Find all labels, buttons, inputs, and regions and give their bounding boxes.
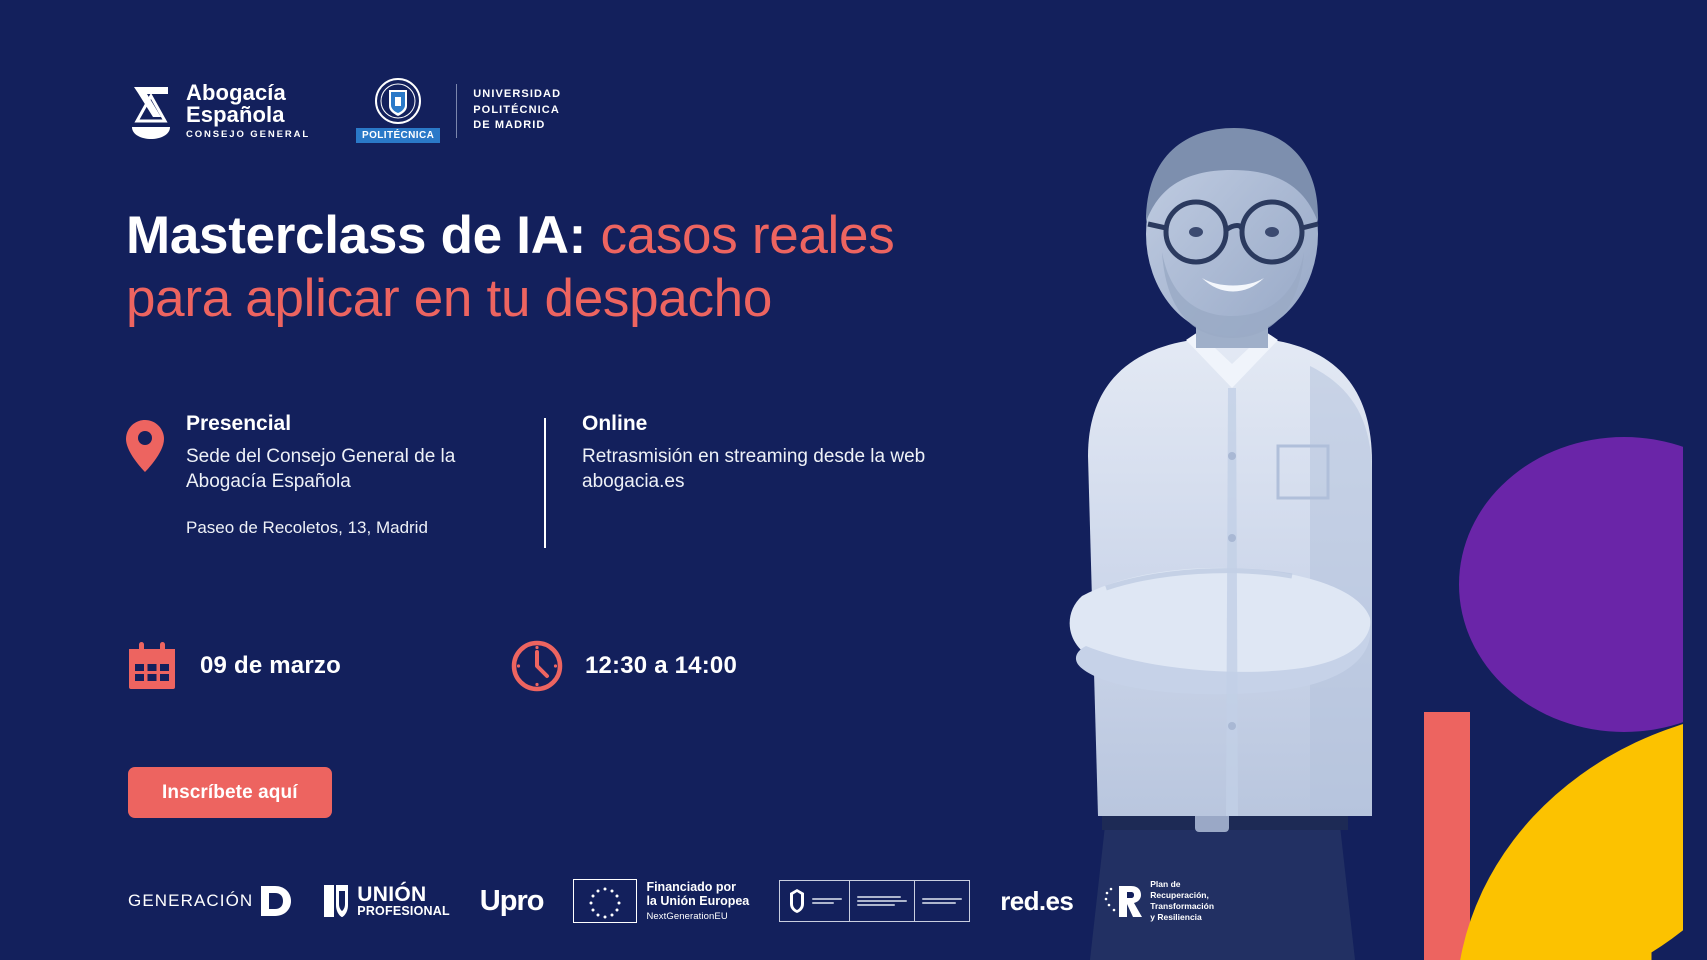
union-profesional-line2: PROFESIONAL xyxy=(357,905,449,917)
headline-line2: para aplicar en tu despacho xyxy=(126,267,1026,331)
modality-online: Online Retrasmisión en streaming desde l… xyxy=(582,412,942,494)
online-body: Retrasmisión en streaming desde la web a… xyxy=(582,444,942,494)
eu-line2: la Unión Europea xyxy=(646,894,749,909)
gobierno-cell-3 xyxy=(915,881,969,921)
online-title: Online xyxy=(582,412,942,436)
yellow-leaf-decoration xyxy=(1456,707,1707,960)
abogacia-line1: Abogacía xyxy=(186,82,310,104)
right-edge-mask xyxy=(1683,0,1707,960)
gobierno-espana-logo xyxy=(779,880,970,922)
gobierno-cell-1 xyxy=(780,881,850,921)
prtr-line3: Transformación xyxy=(1150,901,1214,912)
upm-politecnica-tag: POLITÉCNICA xyxy=(356,128,440,143)
eu-line3: NextGenerationEU xyxy=(646,911,749,922)
event-time-item: 12:30 a 14:00 xyxy=(511,640,737,692)
headline-light: casos reales xyxy=(586,206,894,265)
page-title: Masterclass de IA: casos reales para apl… xyxy=(126,204,1026,331)
headline-bold: Masterclass de IA: xyxy=(126,206,586,265)
eu-line1: Financiado por xyxy=(646,880,749,895)
abogacia-line2: Española xyxy=(186,104,310,126)
presencial-title: Presencial xyxy=(186,412,526,436)
spain-crest-icon xyxy=(787,888,807,914)
redes-logo: red.es xyxy=(1000,886,1073,917)
event-date: 09 de marzo xyxy=(200,652,341,680)
upm-seal-icon xyxy=(375,78,421,124)
abogacia-espanola-logo: Abogacía Española CONSEJO GENERAL xyxy=(128,82,310,140)
prtr-mark-icon xyxy=(1103,884,1143,918)
coral-bar-decoration xyxy=(1424,712,1470,960)
generacion-d-logo: GENERACIÓN xyxy=(128,884,292,918)
eu-flag-icon xyxy=(573,879,637,923)
presencial-address: Paseo de Recoletos, 13, Madrid xyxy=(186,518,526,538)
eu-funding-logo: Financiado por la Unión Europea NextGene… xyxy=(573,879,749,923)
upm-logo: POLITÉCNICA UNIVERSIDAD POLITÉCNICA DE M… xyxy=(356,78,561,143)
union-profesional-logo: UNIÓN PROFESIONAL xyxy=(322,883,449,919)
speaker-portrait xyxy=(1010,126,1430,960)
upro-logo: Upro xyxy=(480,885,544,918)
union-profesional-icon xyxy=(322,883,350,919)
prtr-line2: Recuperación, xyxy=(1150,890,1214,901)
prtr-line1: Plan de xyxy=(1150,879,1214,890)
union-profesional-line1: UNIÓN xyxy=(357,885,449,906)
generacion-d-icon xyxy=(258,884,292,918)
portrait-illustration xyxy=(1010,126,1430,960)
presencial-body: Sede del Consejo General de la Abogacía … xyxy=(186,444,526,494)
calendar-icon xyxy=(126,640,178,692)
upm-divider xyxy=(456,84,457,138)
register-button[interactable]: Inscríbete aquí xyxy=(128,767,332,818)
upm-line2: POLITÉCNICA xyxy=(473,103,561,119)
clock-icon xyxy=(511,640,563,692)
event-when-row: 09 de marzo 12:30 a 14:00 xyxy=(126,640,737,692)
location-pin-icon xyxy=(126,420,164,472)
event-time: 12:30 a 14:00 xyxy=(585,652,737,680)
gobierno-cell-2 xyxy=(850,881,915,921)
promo-banner: Abogacía Española CONSEJO GENERAL POLITÉ… xyxy=(0,0,1707,960)
generacion-word: GENERACIÓN xyxy=(128,891,253,911)
modality-presencial: Presencial Sede del Consejo General de l… xyxy=(126,412,526,538)
abogacia-line3: CONSEJO GENERAL xyxy=(186,130,310,140)
header-logo-bar: Abogacía Española CONSEJO GENERAL POLITÉ… xyxy=(128,78,561,143)
abogacia-emblem-icon xyxy=(128,83,174,139)
modality-divider xyxy=(544,418,546,548)
upm-line3: DE MADRID xyxy=(473,118,561,134)
purple-circle-decoration xyxy=(1459,437,1707,732)
footer-logo-bar: GENERACIÓN UNIÓN PROFESIONAL Upro xyxy=(128,875,1214,927)
event-date-item: 09 de marzo xyxy=(126,640,341,692)
modality-section: Presencial Sede del Consejo General de l… xyxy=(126,412,942,548)
upm-line1: UNIVERSIDAD xyxy=(473,87,561,103)
prtr-logo: Plan de Recuperación, Transformación y R… xyxy=(1103,879,1214,923)
prtr-line4: y Resiliencia xyxy=(1150,912,1214,923)
